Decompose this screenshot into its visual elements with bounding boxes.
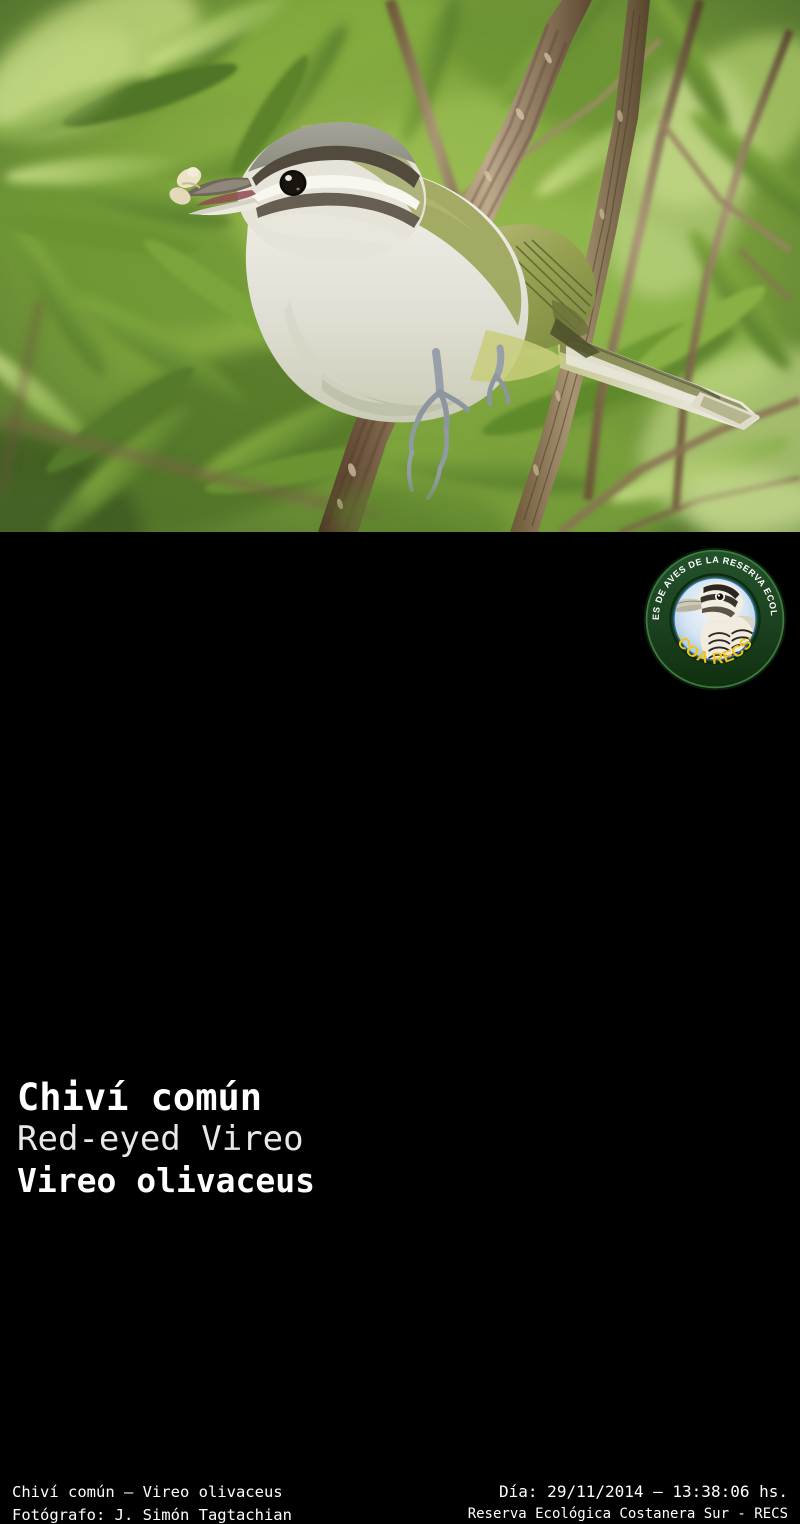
bird-photograph bbox=[0, 0, 800, 532]
footer-photographer-line: Fotógrafo: J. Simón Tagtachian bbox=[12, 1507, 292, 1523]
coa-recs-logo-badge: CLUB DE OBSERVADORES DE AVES DE LA RESER… bbox=[643, 547, 787, 691]
scientific-name: Vireo olivaceus bbox=[17, 1164, 315, 1197]
coa-recs-logo[interactable]: CLUB DE OBSERVADORES DE AVES DE LA RESER… bbox=[643, 547, 787, 691]
footer-datetime-line: Día: 29/11/2014 – 13:38:06 hs. bbox=[499, 1483, 788, 1500]
footer-location-line: Reserva Ecológica Costanera Sur - RECS bbox=[468, 1507, 788, 1522]
photo-illustration bbox=[0, 0, 800, 532]
photo-credit-footer: Chiví común – Vireo olivaceus Fotógrafo:… bbox=[0, 732, 800, 800]
common-name-title: Chiví común bbox=[17, 1079, 262, 1116]
english-name-subtitle: Red-eyed Vireo bbox=[17, 1122, 304, 1156]
photo-card: Chiví común Red-eyed Vireo Vireo olivace… bbox=[0, 0, 800, 800]
footer-species-line: Chiví común – Vireo olivaceus bbox=[12, 1484, 283, 1500]
